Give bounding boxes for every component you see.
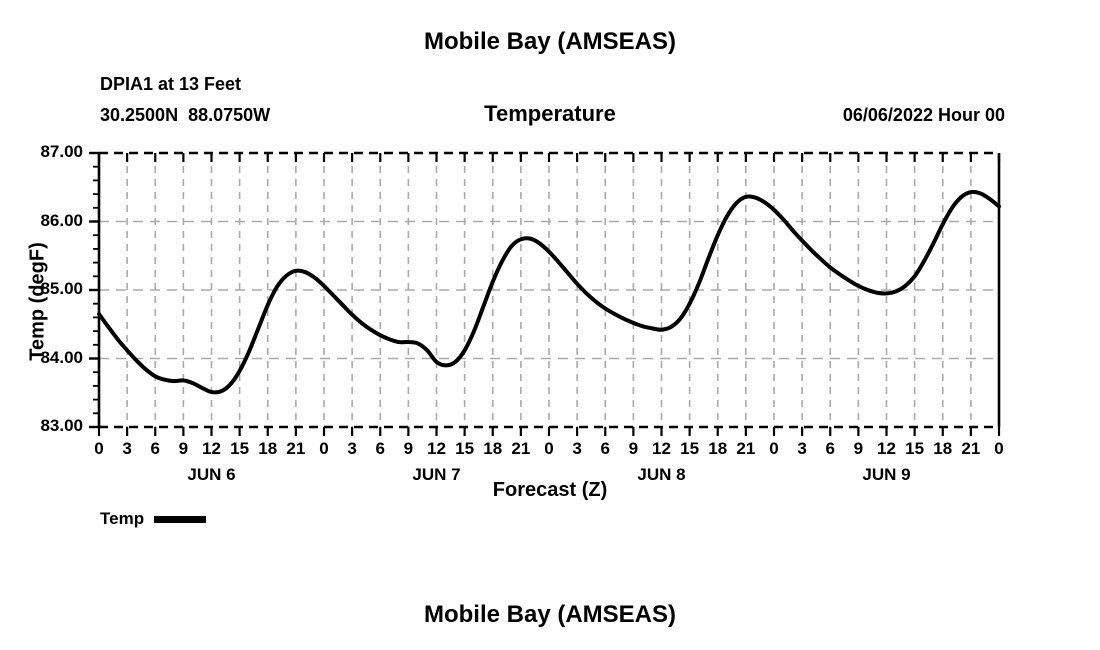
legend: Temp [100, 509, 206, 529]
y-tick-label: 83.00 [11, 416, 83, 436]
y-axis-title: Temp (degF) [27, 202, 50, 402]
legend-label-temp: Temp [100, 509, 144, 529]
page-title-bottom: Mobile Bay (AMSEAS) [0, 601, 1100, 629]
chart-page: Mobile Bay (AMSEAS) DPIA1 at 13 Feet 30.… [0, 0, 1100, 650]
chart-svg [0, 0, 1100, 650]
x-axis-title: Forecast (Z) [0, 479, 1100, 502]
legend-swatch-temp [154, 516, 206, 523]
y-tick-label: 87.00 [11, 142, 83, 162]
x-tick-label: 0 [979, 439, 1019, 459]
plot-area: 87.0086.0085.0084.0083.00036912151821036… [0, 0, 1100, 650]
tick-marks [89, 153, 999, 436]
